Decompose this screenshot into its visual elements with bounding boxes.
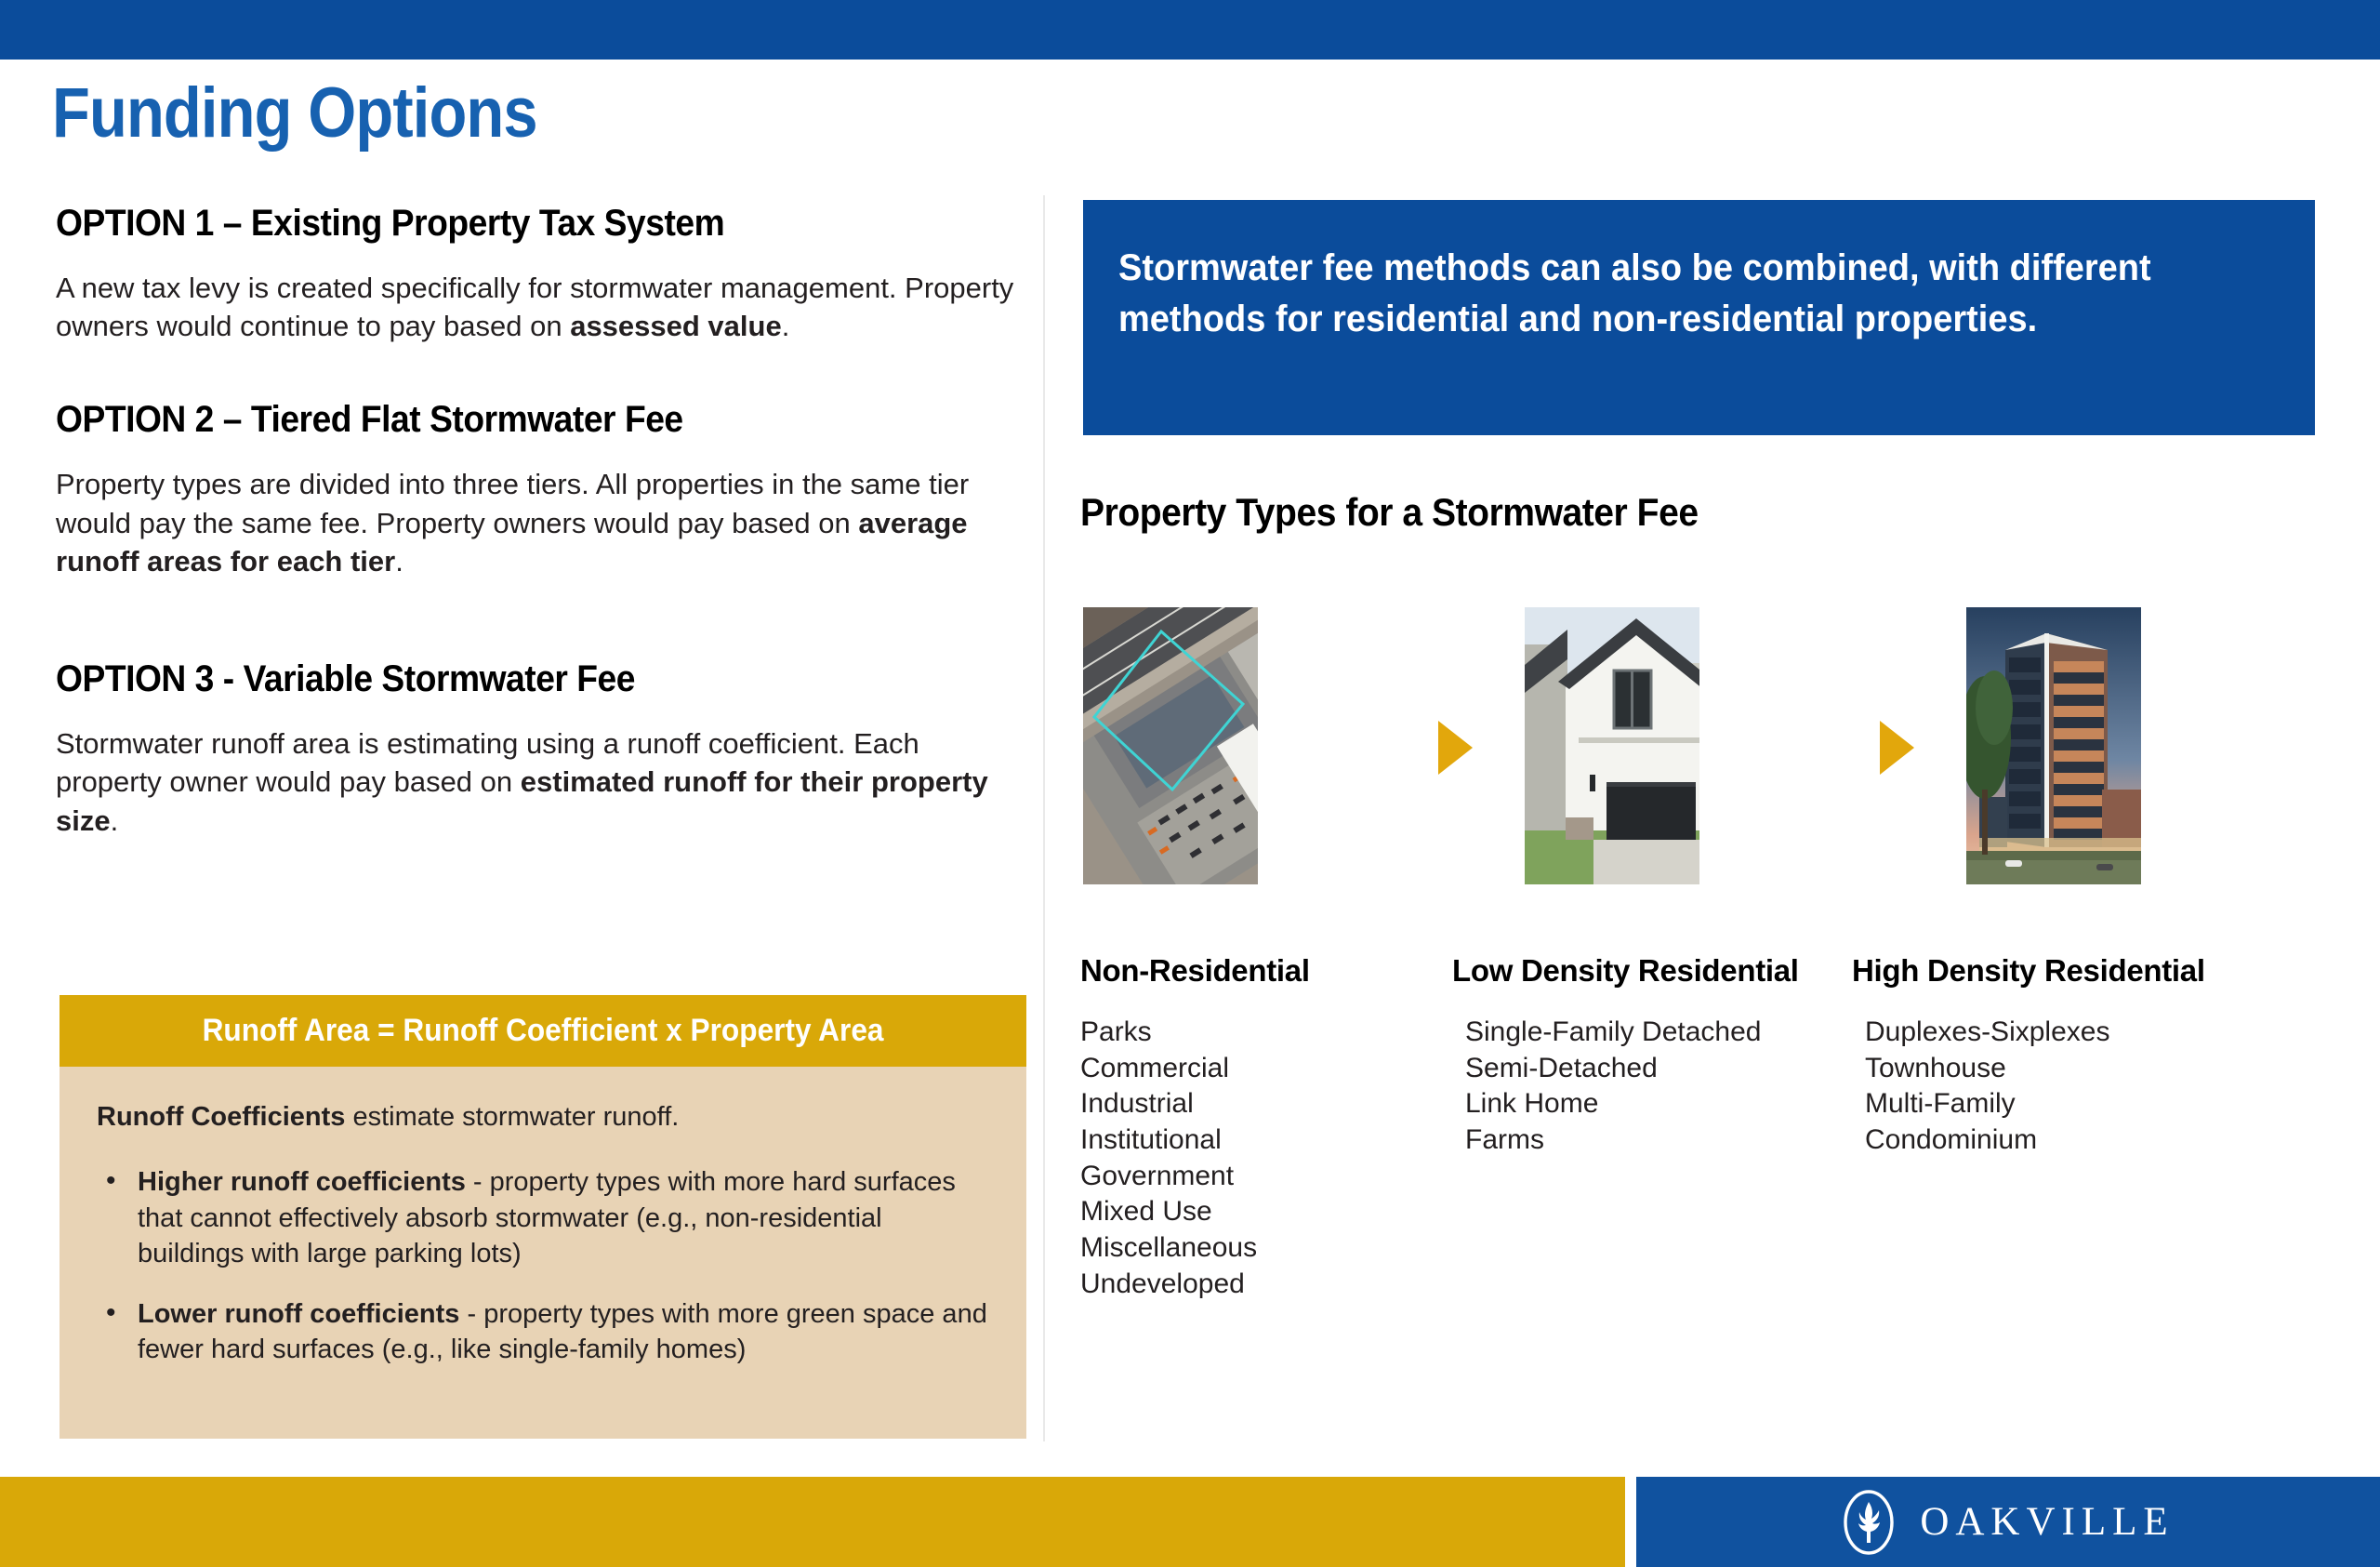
list-item: Miscellaneous (1080, 1230, 1443, 1267)
bullet-glyph: • (106, 1162, 116, 1200)
column-title: High Density Residential (1852, 953, 2373, 989)
list-item-text: Lower runoff coefficients - property typ… (138, 1299, 987, 1365)
oakville-leaf-icon (1842, 1489, 1896, 1556)
property-types-photo-row (1083, 607, 2320, 886)
option-3-body: Stormwater runoff area is estimating usi… (56, 724, 1027, 840)
arrow-right-icon (1880, 721, 1914, 775)
page-title: Funding Options (52, 73, 537, 153)
arrow-right-icon (1438, 721, 1473, 775)
top-accent-bar (0, 0, 2380, 60)
runoff-coefficients-lead: Runoff Coefficients estimate stormwater … (97, 1102, 989, 1133)
footer-logo-bar: OAKVILLE (1636, 1477, 2380, 1567)
spacer (56, 634, 1027, 658)
aerial-industrial-site-photo (1083, 607, 1258, 884)
list-item: Institutional (1080, 1122, 1443, 1159)
option-1-heading: OPTION 1 – Existing Property Tax System (56, 203, 959, 245)
detached-house-photo (1525, 607, 1699, 884)
list-item: Undeveloped (1080, 1267, 1443, 1303)
left-content-column: OPTION 1 – Existing Property Tax System … (56, 203, 1027, 894)
list-item: Townhouse (1865, 1051, 2373, 1087)
runoff-formula-text: Runoff Area = Runoff Coefficient x Prope… (203, 1013, 884, 1049)
combined-methods-callout: Stormwater fee methods can also be combi… (1083, 200, 2315, 435)
list-item: Multi-Family (1865, 1086, 2373, 1122)
footer-gold-bar (0, 1477, 1625, 1567)
runoff-formula-bar: Runoff Area = Runoff Coefficient x Prope… (59, 995, 1026, 1067)
column-list: Parks Commercial Industrial Institutiona… (1080, 1015, 1443, 1303)
column-list: Duplexes-Sixplexes Townhouse Multi-Famil… (1852, 1015, 2373, 1159)
list-item: • Lower runoff coefficients - property t… (97, 1296, 989, 1368)
property-type-column-high-density: High Density Residential Duplexes-Sixple… (1852, 953, 2373, 1159)
list-item: Commercial (1080, 1051, 1443, 1087)
property-types-heading: Property Types for a Stormwater Fee (1080, 490, 1699, 535)
option-2-heading: OPTION 2 – Tiered Flat Stormwater Fee (56, 399, 959, 441)
property-type-column-non-residential: Non-Residential Parks Commercial Industr… (1080, 953, 1443, 1303)
oakville-logo: OAKVILLE (1842, 1489, 2174, 1556)
list-item: Parks (1080, 1015, 1443, 1051)
list-item: Industrial (1080, 1086, 1443, 1122)
list-item: • Higher runoff coefficients - property … (97, 1164, 989, 1272)
option-3-heading: OPTION 3 - Variable Stormwater Fee (56, 658, 959, 700)
runoff-coefficients-box: Runoff Coefficients estimate stormwater … (59, 1067, 1026, 1439)
oakville-wordmark: OAKVILLE (1920, 1499, 2174, 1545)
column-divider (1043, 195, 1045, 1441)
combined-methods-callout-text: Stormwater fee methods can also be combi… (1118, 243, 2209, 345)
list-item: Mixed Use (1080, 1194, 1443, 1230)
runoff-coefficients-list: • Higher runoff coefficients - property … (97, 1164, 989, 1368)
list-item: Condominium (1865, 1122, 2373, 1159)
option-2-body: Property types are divided into three ti… (56, 465, 1027, 580)
list-item: Duplexes-Sixplexes (1865, 1015, 2373, 1051)
high-rise-condo-photo (1966, 607, 2141, 884)
list-item-text: Higher runoff coefficients - property ty… (138, 1167, 956, 1268)
bullet-glyph: • (106, 1295, 116, 1332)
list-item: Government (1080, 1159, 1443, 1195)
option-1-body: A new tax levy is created specifically f… (56, 269, 1027, 345)
column-title: Non-Residential (1080, 953, 1443, 989)
